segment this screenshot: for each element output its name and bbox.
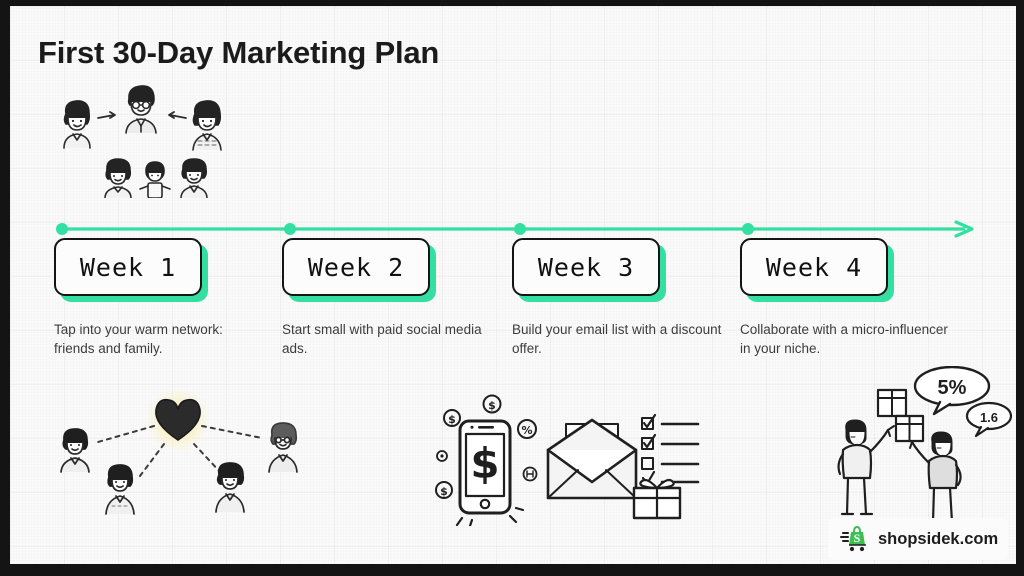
week-badge-face: Week 1 — [54, 238, 202, 296]
week-column-1: Week 1 Tap into your warm network: frien… — [54, 238, 292, 358]
week-badge-face: Week 4 — [740, 238, 888, 296]
week-label: Week 4 — [766, 253, 862, 282]
week-description: Tap into your warm network: friends and … — [54, 320, 264, 358]
week-badge-2[interactable]: Week 2 — [282, 238, 430, 298]
site-logo[interactable]: S shopsidek.com — [828, 518, 1008, 560]
person-left — [839, 420, 894, 514]
week-description: Collaborate with a micro-influencer in y… — [740, 320, 950, 358]
week-column-2: Week 2 Start small with paid social medi… — [282, 238, 520, 358]
svg-text:%: % — [521, 424, 532, 437]
week-description: Build your email list with a discount of… — [512, 320, 722, 358]
week-badge-face: Week 2 — [282, 238, 430, 296]
week-column-4: Week 4 Collaborate with a micro-influenc… — [740, 238, 978, 358]
letterbox-right — [1016, 0, 1024, 576]
timeline-dot-2 — [284, 223, 296, 235]
week-description: Start small with paid social media ads. — [282, 320, 492, 358]
gift-box-icon — [634, 480, 680, 518]
week-label: Week 1 — [80, 253, 176, 282]
week-column-3: Week 3 Build your email list with a disc… — [512, 238, 750, 358]
logo-letter: S — [854, 531, 861, 545]
timeline-dot-3 — [514, 223, 526, 235]
week-badge-4[interactable]: Week 4 — [740, 238, 888, 298]
bubble-text-2: 1.6 — [980, 410, 998, 425]
week-label: Week 3 — [538, 253, 634, 282]
letterbox-bottom — [0, 564, 1024, 576]
network-sketch-illustration — [48, 78, 248, 198]
week-label: Week 2 — [308, 253, 404, 282]
dollar-sign: $ — [470, 439, 499, 488]
shopping-bag-cart-icon: S — [839, 524, 869, 554]
slide-canvas: First 30-Day Marketing Plan — [10, 6, 1016, 564]
week-badge-1[interactable]: Week 1 — [54, 238, 202, 298]
speech-bubble-2: 1.6 — [967, 403, 1011, 436]
letterbox-left — [0, 0, 10, 576]
timeline-dot-1 — [56, 223, 68, 235]
week-badge-face: Week 3 — [512, 238, 660, 296]
checklist-icon — [642, 415, 698, 484]
svg-text:$: $ — [488, 399, 496, 412]
page-title: First 30-Day Marketing Plan — [38, 35, 439, 71]
timeline-dot-4 — [742, 223, 754, 235]
influencer-illustration: 5% 1.6 — [816, 366, 1012, 524]
svg-text:$: $ — [440, 485, 448, 498]
person-right — [906, 432, 961, 522]
bubble-text-1: 5% — [938, 377, 967, 399]
heart-network-illustration — [44, 384, 322, 524]
logo-text: shopsidek.com — [878, 530, 998, 549]
phone-money-illustration: $ $ $ % $ — [422, 386, 547, 526]
letterbox-top — [0, 0, 1024, 6]
svg-text:$: $ — [448, 413, 456, 426]
week-badge-3[interactable]: Week 3 — [512, 238, 660, 298]
envelope-checklist-illustration — [538, 406, 703, 521]
